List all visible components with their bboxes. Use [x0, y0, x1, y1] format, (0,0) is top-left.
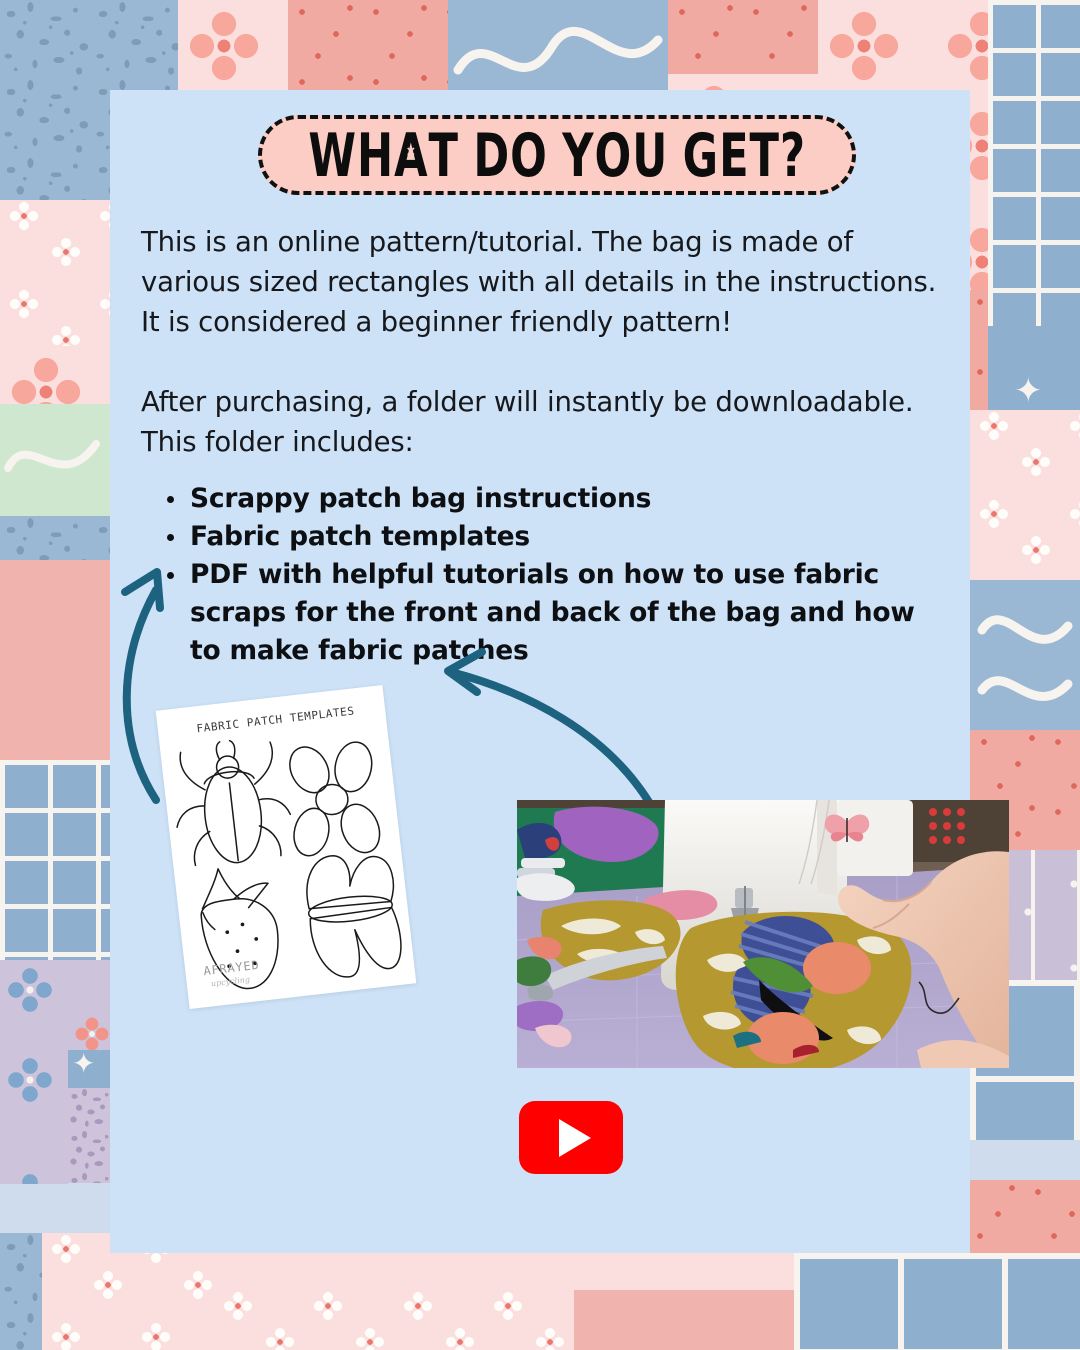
bg-patch-dots-coral-2 [668, 0, 818, 74]
title-letter: T [749, 120, 779, 190]
list-item: Fabric patch templates [163, 518, 953, 556]
template-sheet-image: FABRIC PATCH TEMPLATES [156, 685, 416, 1009]
bg-patch-grid-blue-2 [988, 96, 1080, 326]
title-letter: A× [394, 120, 428, 190]
x-eye-icon: × [523, 145, 534, 160]
bg-patch-flower-pink-2 [818, 0, 988, 100]
x-eye-icon: × [486, 145, 497, 160]
paragraph-download: After purchasing, a folder will instantl… [141, 382, 941, 462]
squiggle-icon-2 [970, 580, 1080, 730]
title-letter: W [308, 120, 357, 190]
poster-canvas: ✦ ✦ [0, 0, 1080, 1350]
title-letter: Y [562, 120, 594, 190]
bg-patch-speckled-lilac-3 [68, 1088, 110, 1183]
title-letter: O× [594, 120, 632, 190]
bg-patch-grid-blue-3 [0, 760, 110, 960]
page-title: WHA×TD×O×YO×UGET? [308, 120, 806, 190]
bg-patch-grid-bottom [794, 1253, 1080, 1350]
title-letter: H [357, 120, 394, 190]
title-letter: G [682, 120, 718, 190]
title-letter: U [632, 120, 668, 190]
bg-patch-daisy-pink-4 [214, 1290, 574, 1350]
butterfly-sticker-icon [825, 815, 869, 843]
bg-patch-mint [0, 404, 120, 516]
list-item: Scrappy patch bag instructions [163, 480, 953, 518]
title-letter: ? [780, 120, 806, 190]
tutorial-photo-scene [517, 800, 1009, 1068]
bg-patch-speckled-blue-3 [0, 1233, 42, 1350]
x-eye-icon: × [607, 145, 618, 160]
bg-patch-grid-blue [988, 0, 1080, 96]
template-sheet-drawing: FABRIC PATCH TEMPLATES [156, 685, 416, 1009]
title-letter: T [428, 120, 458, 190]
bg-patch-star-blue-2: ✦ [68, 1050, 110, 1088]
star-icon-2: ✦ [72, 1050, 95, 1078]
bg-patch-squiggle-blue-2 [970, 580, 1080, 730]
bg-patch-coral-bottom [574, 1290, 794, 1350]
arrow-right-icon [437, 640, 687, 815]
title-letter: O× [510, 120, 548, 190]
bg-patch-dots-coral [288, 0, 448, 100]
squiggle-icon-mint [0, 404, 120, 516]
bg-patch-pale-pink [214, 1253, 814, 1293]
bg-patch-coral-plain [0, 560, 110, 760]
title-letter: E [719, 120, 749, 190]
play-icon [559, 1119, 591, 1157]
bg-patch-mixflower-lilac-3 [0, 1050, 68, 1184]
star-icon: ✦ [1014, 374, 1043, 408]
tutorial-photo [517, 800, 1009, 1068]
title-letter: D× [473, 120, 510, 190]
body-copy: This is an online pattern/tutorial. The … [141, 222, 941, 462]
youtube-play-button[interactable] [519, 1101, 623, 1174]
x-eye-icon: × [405, 145, 416, 160]
bg-patch-daisy-pink-2 [970, 410, 1080, 580]
title-banner: WHA×TD×O×YO×UGET? [258, 115, 856, 195]
paragraph-intro: This is an online pattern/tutorial. The … [141, 222, 941, 342]
